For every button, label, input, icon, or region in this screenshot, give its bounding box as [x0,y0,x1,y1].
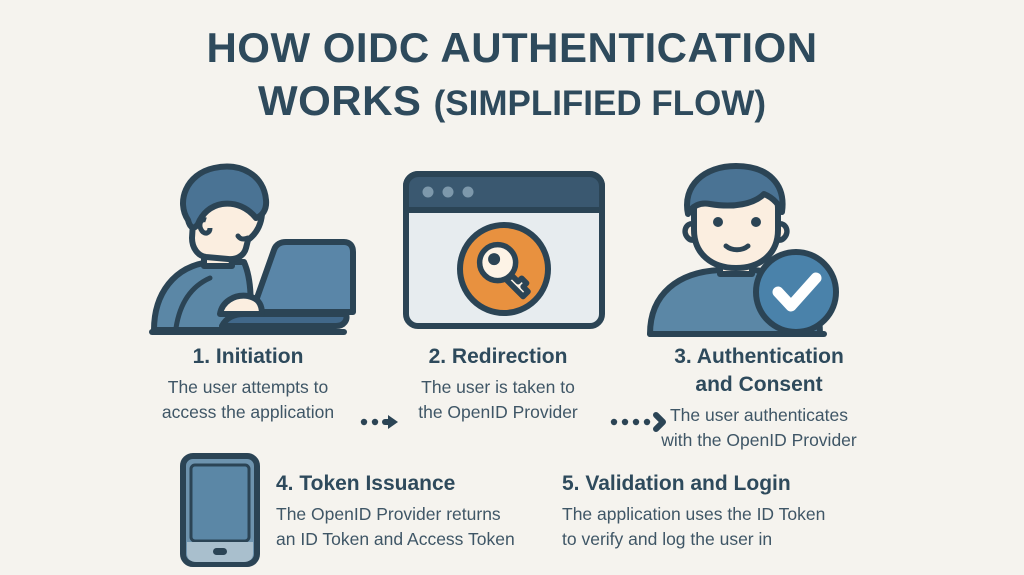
title-line-2-parenthetical: (SIMPLIFIED FLOW) [434,84,766,123]
step-body: The user is taken to the OpenID Provider [386,375,610,426]
step-title: 1. Initiation [132,343,364,371]
step-body: The user attempts to access the applicat… [132,375,364,426]
person-at-laptop-illustration [148,162,360,340]
step-body: The OpenID Provider returns an ID Token … [276,502,556,553]
step-caption-validation-and-login: 5. Validation and Login The application … [562,470,862,553]
step-body: The user authenticates with the OpenID P… [630,403,888,454]
mobile-phone-icon [178,452,262,568]
check-badge-icon [756,252,836,332]
step-caption-initiation: 1. Initiation The user attempts to acces… [132,343,364,426]
step-title: 5. Validation and Login [562,470,862,498]
step-title: 4. Token Issuance [276,470,556,498]
infographic-title: HOW OIDC AUTHENTICATION WORKS (SIMPLIFIE… [0,22,1024,127]
step-body: The application uses the ID Token to ver… [562,502,862,553]
title-line-2-main: WORKS [258,77,434,124]
step-caption-redirection: 2. Redirection The user is taken to the … [386,343,610,426]
title-line-2: WORKS (SIMPLIFIED FLOW) [0,75,1024,128]
step-title: 3. Authentication and Consent [630,343,888,399]
step-title: 2. Redirection [386,343,610,371]
step-caption-token-issuance: 4. Token Issuance The OpenID Provider re… [276,470,556,553]
oidc-flow-infographic: HOW OIDC AUTHENTICATION WORKS (SIMPLIFIE… [0,0,1024,575]
step-caption-authentication-and-consent: 3. Authentication and Consent The user a… [630,343,888,454]
title-line-1: HOW OIDC AUTHENTICATION [0,22,1024,75]
illustration-row [0,162,1024,340]
bottom-step-row: 4. Token Issuance The OpenID Provider re… [0,452,1024,572]
person-verified-illustration [648,162,860,340]
window-control-dots-icon [423,187,474,198]
browser-window-key-illustration [398,162,610,340]
